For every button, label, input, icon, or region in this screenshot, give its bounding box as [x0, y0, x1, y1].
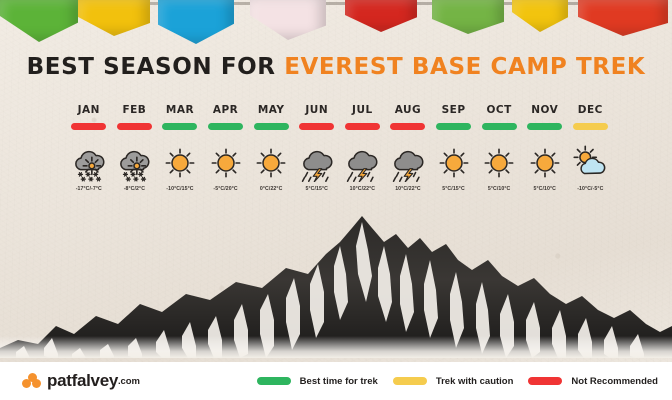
legend-item: Best time for trek: [257, 376, 378, 387]
legend-swatch: [393, 377, 427, 385]
month-column-jul[interactable]: JUL10°C/22°C: [340, 104, 386, 192]
prayer-flag: [78, 0, 150, 36]
thunderstorm-icon: [294, 142, 340, 184]
page-title: BEST SEASON FOR EVEREST BASE CAMP TREK: [0, 54, 672, 80]
month-column-aug[interactable]: AUG10°C/22°C: [385, 104, 431, 192]
title-accent: EVEREST BASE CAMP TREK: [284, 54, 645, 80]
month-temperature: 5°C/15°C: [294, 186, 340, 192]
logo-name: patfalvey: [47, 371, 118, 391]
thunderstorm-icon: [385, 142, 431, 184]
month-column-mar[interactable]: MAR-10°C/15°C: [157, 104, 203, 192]
sun-icon: [203, 142, 249, 184]
prayer-flag: [345, 0, 417, 32]
legend-swatch: [257, 377, 291, 385]
sun-icon: [248, 142, 294, 184]
month-temperature: 5°C/15°C: [431, 186, 477, 192]
month-temperature: -8°C/2°C: [112, 186, 158, 192]
legend-item: Not Recommended: [528, 376, 658, 387]
trefoil-logo-icon: [22, 373, 41, 389]
month-column-dec[interactable]: DEC-10°C/-5°C: [568, 104, 614, 192]
month-status-bar: [254, 123, 289, 130]
month-status-bar: [71, 123, 106, 130]
month-temperature: 0°C/22°C: [248, 186, 294, 192]
prayer-flag-banner: [0, 0, 672, 46]
month-temperature: 5°C/10°C: [476, 186, 522, 192]
month-status-bar: [117, 123, 152, 130]
month-label: MAR: [157, 104, 203, 116]
month-label: JUN: [294, 104, 340, 116]
prayer-flag: [158, 0, 234, 44]
month-status-bar: [299, 123, 334, 130]
sun-icon: [157, 142, 203, 184]
legend: Best time for trekTrek with cautionNot R…: [257, 376, 658, 387]
sun-icon: [476, 142, 522, 184]
month-column-sep[interactable]: SEP5°C/15°C: [431, 104, 477, 192]
month-status-bar: [162, 123, 197, 130]
month-column-jan[interactable]: JAN-17°C/-7°C: [66, 104, 112, 192]
month-grid: JAN-17°C/-7°CFEB-8°C/2°CMAR-10°C/15°CAPR…: [66, 104, 614, 192]
month-temperature: 5°C/10°C: [522, 186, 568, 192]
month-column-jun[interactable]: JUN5°C/15°C: [294, 104, 340, 192]
infographic-canvas: BEST SEASON FOR EVEREST BASE CAMP TREK J…: [0, 0, 672, 400]
month-temperature: -17°C/-7°C: [66, 186, 112, 192]
month-label: OCT: [476, 104, 522, 116]
month-label: MAY: [248, 104, 294, 116]
prayer-flag: [432, 0, 504, 34]
prayer-flag: [0, 0, 78, 42]
month-label: AUG: [385, 104, 431, 116]
footer-bar: patfalvey .com Best time for trekTrek wi…: [0, 362, 672, 400]
sun-behind-cloud-icon: [568, 142, 614, 184]
month-temperature: -5°C/20°C: [203, 186, 249, 192]
prayer-flag: [250, 0, 326, 40]
snow-cloud-icon: [112, 142, 158, 184]
legend-item: Trek with caution: [393, 376, 514, 387]
month-column-may[interactable]: MAY0°C/22°C: [248, 104, 294, 192]
month-status-bar: [482, 123, 517, 130]
month-temperature: 10°C/22°C: [385, 186, 431, 192]
month-status-bar: [436, 123, 471, 130]
month-label: JAN: [66, 104, 112, 116]
legend-label: Not Recommended: [571, 376, 658, 387]
legend-label: Trek with caution: [436, 376, 514, 387]
sun-icon: [431, 142, 477, 184]
month-label: JUL: [340, 104, 386, 116]
month-status-bar: [345, 123, 380, 130]
prayer-flag: [512, 0, 568, 32]
sun-icon: [522, 142, 568, 184]
month-column-oct[interactable]: OCT5°C/10°C: [476, 104, 522, 192]
month-status-bar: [573, 123, 608, 130]
logo-tld: .com: [118, 376, 140, 387]
month-column-feb[interactable]: FEB-8°C/2°C: [112, 104, 158, 192]
month-label: DEC: [568, 104, 614, 116]
month-status-bar: [527, 123, 562, 130]
month-label: APR: [203, 104, 249, 116]
month-label: FEB: [112, 104, 158, 116]
snow-cloud-icon: [66, 142, 112, 184]
month-status-bar: [390, 123, 425, 130]
month-temperature: 10°C/22°C: [340, 186, 386, 192]
month-temperature: -10°C/15°C: [157, 186, 203, 192]
legend-swatch: [528, 377, 562, 385]
legend-label: Best time for trek: [300, 376, 378, 387]
brand-logo[interactable]: patfalvey .com: [22, 371, 140, 391]
month-column-apr[interactable]: APR-5°C/20°C: [203, 104, 249, 192]
month-label: SEP: [431, 104, 477, 116]
prayer-flag: [578, 0, 668, 36]
month-status-bar: [208, 123, 243, 130]
thunderstorm-icon: [340, 142, 386, 184]
month-column-nov[interactable]: NOV5°C/10°C: [522, 104, 568, 192]
month-temperature: -10°C/-5°C: [568, 186, 614, 192]
mountain-illustration: [0, 198, 672, 358]
month-label: NOV: [522, 104, 568, 116]
title-prefix: BEST SEASON FOR: [27, 54, 276, 80]
